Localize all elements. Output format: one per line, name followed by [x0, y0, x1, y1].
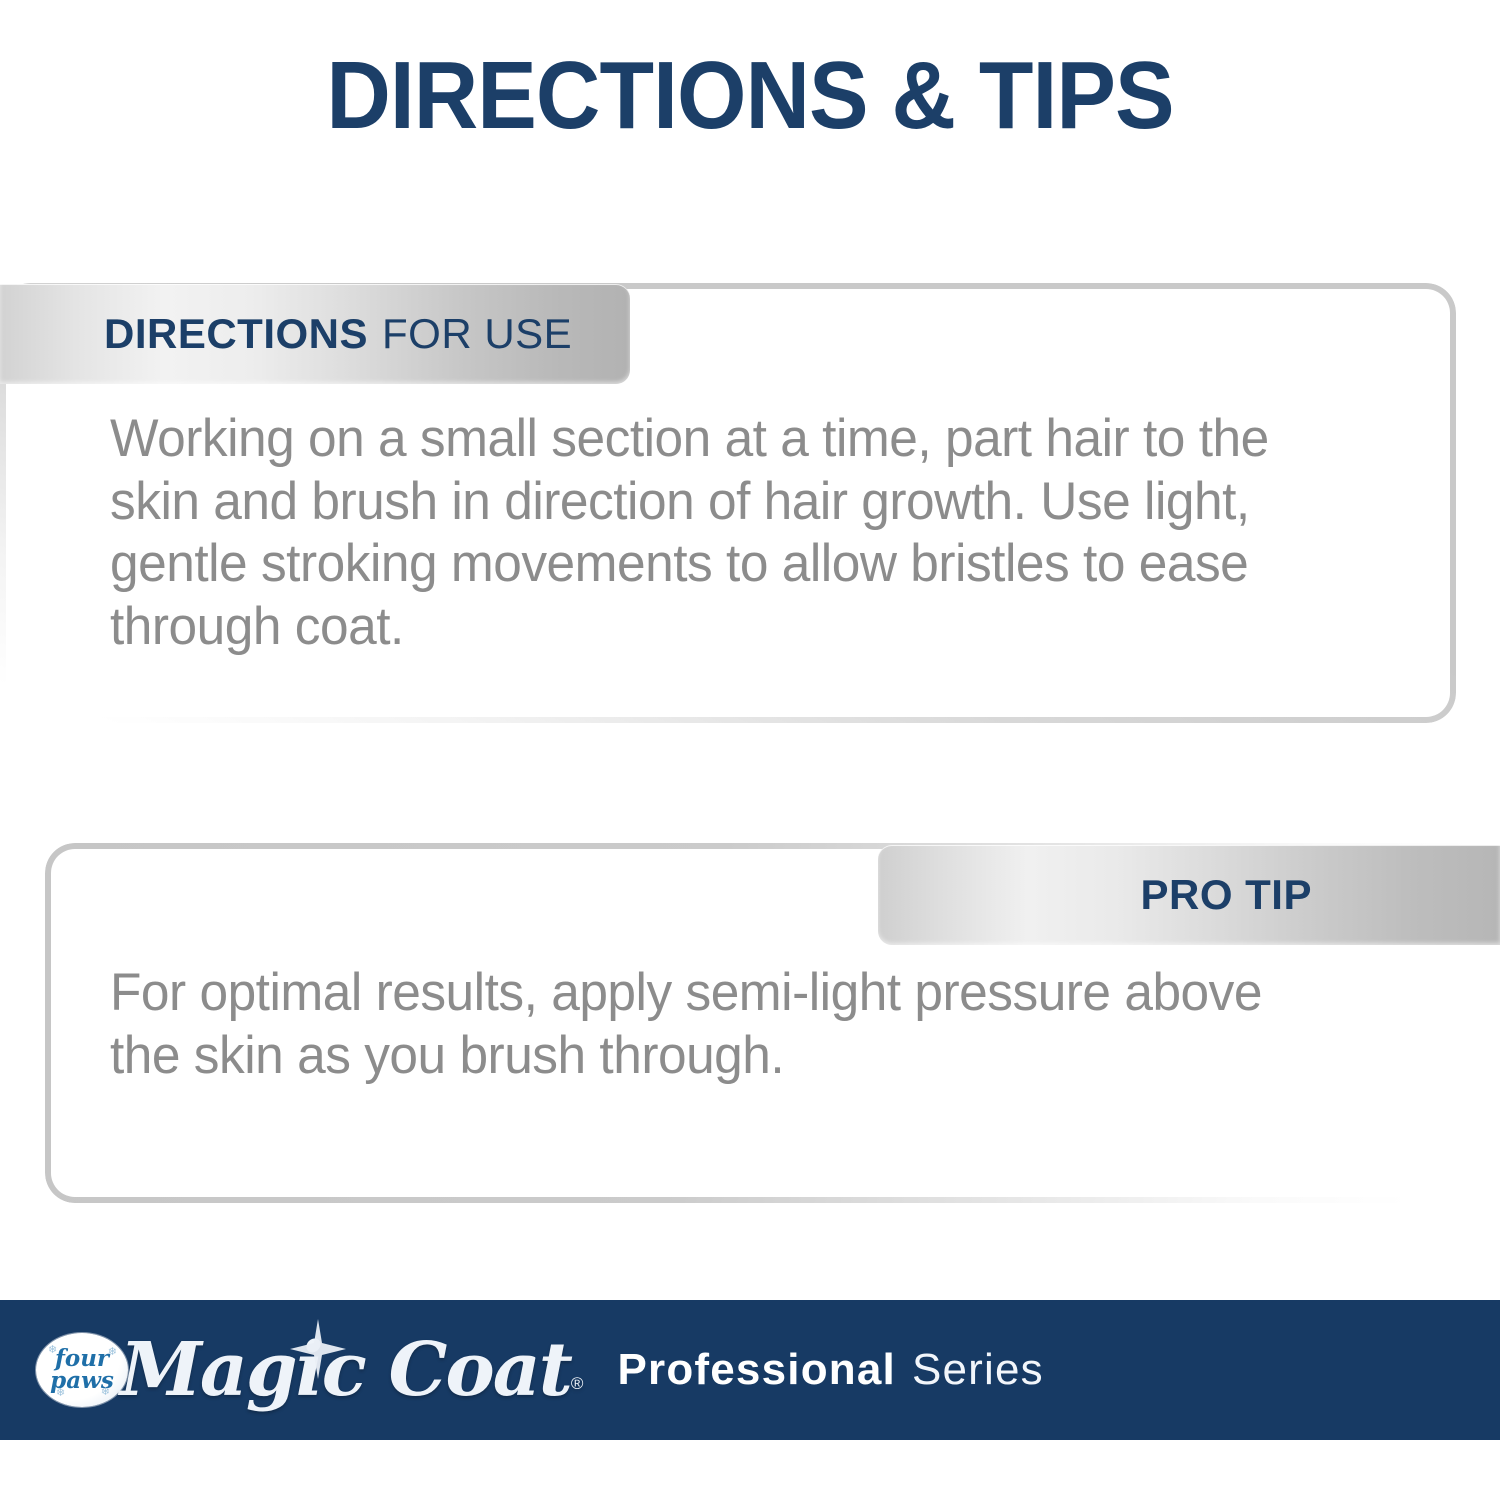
tab-pro-tip[interactable]: PRO TIP — [878, 845, 1500, 945]
registered-mark: ® — [571, 1374, 584, 1393]
protip-body-text: For optimal results, apply semi-light pr… — [110, 962, 1274, 1087]
footer-brand-bar: ❄ ❄ ❄ ❄ four paws Magic Coat® Profession… — [0, 1300, 1500, 1440]
tab-directions-label-light: FOR USE — [382, 310, 572, 358]
paw-print-icon: ❄ — [101, 1387, 110, 1398]
series-label: Series — [912, 1345, 1044, 1395]
professional-label: Professional — [617, 1345, 896, 1395]
page-title: DIRECTIONS & TIPS — [53, 46, 1448, 147]
brand-lockup: ❄ ❄ ❄ ❄ four paws Magic Coat® Profession… — [36, 1300, 1044, 1440]
tab-directions-label-strong: DIRECTIONS — [104, 310, 368, 358]
four-paws-badge-icon: ❄ ❄ ❄ ❄ four paws — [36, 1333, 128, 1407]
paw-print-icon: ❄ — [48, 1345, 57, 1356]
tab-pro-tip-label: PRO TIP — [1140, 871, 1312, 919]
professional-series-label: Professional Series — [617, 1345, 1043, 1395]
directions-body-text: Working on a small section at a time, pa… — [110, 408, 1332, 658]
paw-print-icon: ❄ — [56, 1388, 65, 1399]
tab-directions-for-use[interactable]: DIRECTIONS FOR USE — [0, 284, 630, 384]
paw-print-icon: ❄ — [108, 1347, 117, 1358]
magic-coat-wordmark: Magic Coat® — [120, 1333, 583, 1407]
